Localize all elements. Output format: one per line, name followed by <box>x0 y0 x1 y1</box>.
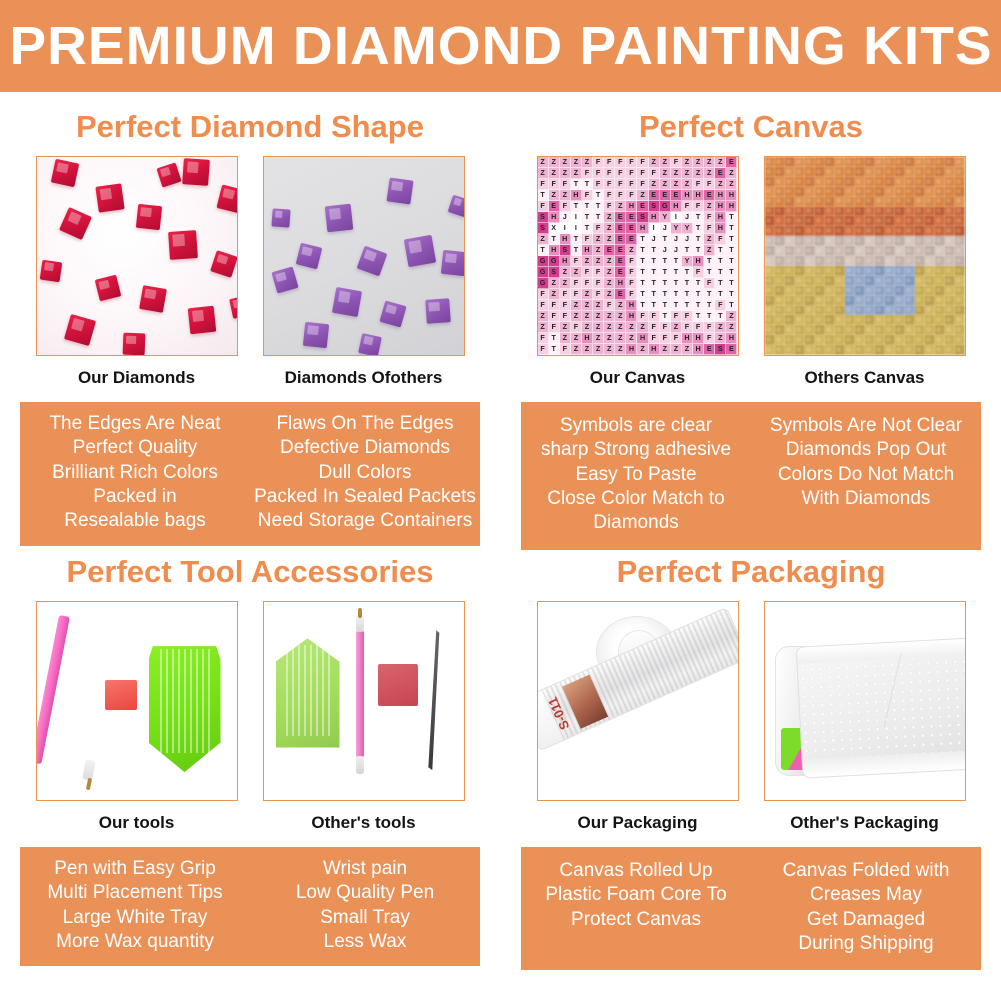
diamond-bead <box>187 306 216 335</box>
canvas-symbol-cell: F <box>704 179 715 190</box>
canvas-symbol-cell: H <box>649 212 660 223</box>
blurry-canvas-cell <box>865 216 875 226</box>
canvas-symbol-cell: H <box>549 212 560 223</box>
page-banner: PREMIUM DIAMOND PAINTING KITS <box>0 0 1001 92</box>
canvas-symbol-cell: G <box>538 267 549 278</box>
canvas-symbol-cell: Z <box>715 333 726 344</box>
blurry-canvas-cell <box>865 236 875 246</box>
diamond-bead <box>95 183 124 212</box>
blurry-canvas-cell <box>805 266 815 276</box>
canvas-symbol-cell: Z <box>615 333 626 344</box>
diamond-bead <box>356 246 387 277</box>
blurry-canvas-cell <box>795 157 805 167</box>
blurry-canvas-cell <box>955 216 965 226</box>
blurry-canvas-cell <box>805 296 815 306</box>
blurry-canvas-cell <box>775 167 785 177</box>
canvas-symbol-cell: F <box>682 322 693 333</box>
blurry-canvas-cell <box>925 266 935 276</box>
blurry-canvas-cell <box>875 286 885 296</box>
diamond-bead <box>302 322 328 348</box>
canvas-symbol-cell: Z <box>593 322 604 333</box>
canvas-symbol-cell: G <box>538 256 549 267</box>
canvas-symbol-cell: E <box>726 344 737 355</box>
blurry-canvas-cell <box>825 345 835 355</box>
canvas-symbol-cell: Z <box>582 157 593 168</box>
blurry-canvas-cell <box>785 296 795 306</box>
canvas-symbol-cell: T <box>726 234 737 245</box>
blurry-canvas-cell <box>935 167 945 177</box>
blurry-canvas-cell <box>885 226 895 236</box>
blurry-canvas-cell <box>955 306 965 316</box>
fact-line: Flaws On The Edges <box>253 412 477 436</box>
blurry-canvas-cell <box>925 315 935 325</box>
blurry-canvas-cell <box>845 256 855 266</box>
canvas-symbol-cell: T <box>671 267 682 278</box>
blurry-canvas-cell <box>825 197 835 207</box>
blurry-canvas-cell <box>855 236 865 246</box>
section-diamond-shape: Perfect Diamond Shape Our Diamonds Diamo… <box>0 92 500 546</box>
blurry-canvas-cell <box>805 335 815 345</box>
canvas-symbol-cell: F <box>538 333 549 344</box>
canvas-symbol-cell: Z <box>615 322 626 333</box>
canvas-symbol-cell: F <box>637 311 648 322</box>
blurry-canvas-cell <box>905 315 915 325</box>
canvas-symbol-cell: T <box>671 278 682 289</box>
canvas-symbol-cell: F <box>604 168 615 179</box>
blurry-canvas-cell <box>955 266 965 276</box>
blurry-canvas-cell <box>815 335 825 345</box>
canvas-symbol-cell: T <box>671 256 682 267</box>
blurry-canvas-cell <box>835 226 845 236</box>
blurry-canvas-cell <box>785 266 795 276</box>
canvas-symbol-cell: T <box>538 190 549 201</box>
blurry-canvas-cell <box>905 226 915 236</box>
canvas-symbol-cell: H <box>582 245 593 256</box>
blurry-canvas-cell <box>835 276 845 286</box>
fact-line: Wrist pain <box>253 857 477 881</box>
fact-line: Symbols Are Not Clear <box>754 414 978 438</box>
fact-line: Canvas Folded with <box>754 859 978 883</box>
blurry-canvas-cell <box>935 226 945 236</box>
image-cell-our-canvas: ZZZZZFFFFFZZFZZZZEZZZZFFFFFFFZZZZZEZFFFT… <box>537 156 739 388</box>
canvas-symbol-cell: T <box>693 278 704 289</box>
canvas-symbol-cell: X <box>549 223 560 234</box>
fact-line: Multi Placement Tips <box>23 881 247 905</box>
canvas-symbol-cell: T <box>637 245 648 256</box>
canvas-symbol-cell: J <box>649 234 660 245</box>
canvas-symbol-cell: Z <box>626 333 637 344</box>
blurry-canvas-cell <box>915 345 925 355</box>
blurry-canvas-cell <box>885 157 895 167</box>
canvas-symbol-cell: F <box>604 190 615 201</box>
blurry-canvas-cell <box>825 256 835 266</box>
canvas-symbol-cell: T <box>582 179 593 190</box>
canvas-symbol-cell: F <box>693 201 704 212</box>
blurry-canvas-cell <box>925 187 935 197</box>
canvas-symbol-cell: Z <box>538 322 549 333</box>
blurry-canvas-cell <box>865 177 875 187</box>
blurry-canvas-cell <box>915 197 925 207</box>
canvas-symbol-cell: T <box>582 212 593 223</box>
blurry-canvas-cell <box>785 236 795 246</box>
caption-other-tools: Other's tools <box>263 813 465 833</box>
blurry-canvas-cell <box>795 207 805 217</box>
blurry-canvas-cell <box>925 335 935 345</box>
diamond-bead <box>379 300 406 327</box>
canvas-symbol-cell: F <box>626 278 637 289</box>
section-packaging: Perfect Packaging S-011 <box>501 537 1001 970</box>
blurry-canvas-cell <box>845 236 855 246</box>
facts-others-diamond-shape: Flaws On The EdgesDefective DiamondsDull… <box>250 412 480 534</box>
fact-line: Colors Do Not Match <box>754 463 978 487</box>
canvas-symbol-cell: F <box>626 289 637 300</box>
canvas-symbol-cell: H <box>560 234 571 245</box>
blurry-canvas-cell <box>925 306 935 316</box>
blurry-canvas-cell <box>875 167 885 177</box>
blurry-canvas-cell <box>785 306 795 316</box>
caption-other-diamonds: Diamonds Ofothers <box>263 368 465 388</box>
blurry-canvas-cell <box>855 276 865 286</box>
blurry-canvas-cell <box>775 325 785 335</box>
fact-line: Resealable bags <box>23 509 247 533</box>
blurry-canvas-cell <box>945 197 955 207</box>
canvas-symbol-cell: T <box>704 256 715 267</box>
canvas-symbol-cell: Z <box>660 168 671 179</box>
canvas-symbol-cell: F <box>604 300 615 311</box>
canvas-symbol-cell: F <box>582 190 593 201</box>
canvas-symbol-cell: H <box>549 245 560 256</box>
canvas-symbol-cell: T <box>715 256 726 267</box>
blurry-canvas-cell <box>955 276 965 286</box>
canvas-symbol-cell: F <box>671 157 682 168</box>
canvas-symbol-cell: T <box>549 234 560 245</box>
section-title-tools: Perfect Tool Accessories <box>0 537 500 589</box>
blurry-canvas-cell <box>775 276 785 286</box>
canvas-symbol-cell: E <box>615 245 626 256</box>
blurry-canvas-cell <box>865 306 875 316</box>
blurry-canvas-cell <box>915 236 925 246</box>
canvas-symbol-cell: Z <box>604 267 615 278</box>
blurry-canvas-cell <box>795 276 805 286</box>
other-pen-needle-icon <box>358 608 362 618</box>
blurry-canvas-cell <box>955 345 965 355</box>
fact-line: During Shipping <box>754 932 978 956</box>
canvas-symbol-cell: J <box>660 245 671 256</box>
blurry-canvas-cell <box>895 335 905 345</box>
blurry-canvas-cell <box>945 345 955 355</box>
blurry-canvas-cell <box>935 266 945 276</box>
blurry-canvas-cell <box>905 335 915 345</box>
blurry-canvas-cell <box>895 216 905 226</box>
blurry-canvas-cell <box>935 325 945 335</box>
canvas-symbol-cell: Z <box>582 256 593 267</box>
canvas-symbol-cell: E <box>660 190 671 201</box>
fact-line: Packed in <box>23 485 247 509</box>
blurry-canvas-cell <box>865 286 875 296</box>
canvas-symbol-cell: T <box>649 278 660 289</box>
blurry-canvas-cell <box>915 325 925 335</box>
canvas-symbol-cell: J <box>660 223 671 234</box>
canvas-symbol-cell: Z <box>604 256 615 267</box>
canvas-symbol-cell: Z <box>671 322 682 333</box>
blurry-canvas-cell <box>885 246 895 256</box>
blurry-canvas-cell <box>955 157 965 167</box>
blurry-canvas-cell <box>805 325 815 335</box>
blurry-canvas-cell <box>865 345 875 355</box>
blurry-canvas-cell <box>925 236 935 246</box>
fact-line: With Diamonds <box>754 487 978 511</box>
canvas-symbol-cell: H <box>560 256 571 267</box>
canvas-symbol-cell: F <box>549 300 560 311</box>
image-cell-our-packaging: S-011 Our Packaging <box>537 601 739 833</box>
canvas-symbol-cell: Z <box>682 168 693 179</box>
blurry-canvas-cell <box>775 207 785 217</box>
canvas-symbol-cell: T <box>715 311 726 322</box>
blurry-canvas-cell <box>825 286 835 296</box>
canvas-symbol-cell: E <box>549 201 560 212</box>
canvas-symbol-cell: T <box>693 223 704 234</box>
blurry-canvas-cell <box>845 306 855 316</box>
fact-line: Close Color Match to <box>524 487 748 511</box>
blurry-canvas-cell <box>765 315 775 325</box>
blurry-canvas-cell <box>825 276 835 286</box>
blurry-canvas-cell <box>795 236 805 246</box>
canvas-symbol-cell: T <box>715 245 726 256</box>
blurry-canvas-cell <box>915 296 925 306</box>
image-cell-our-tools: Our tools <box>36 601 238 833</box>
canvas-symbol-cell: F <box>615 190 626 201</box>
blurry-canvas-cell <box>835 236 845 246</box>
blurry-canvas-cell <box>955 226 965 236</box>
blurry-canvas-cell <box>945 207 955 217</box>
canvas-symbol-cell: Z <box>649 179 660 190</box>
blurry-canvas-cell <box>905 187 915 197</box>
blurry-canvas-cell <box>905 256 915 266</box>
canvas-symbol-cell: H <box>626 344 637 355</box>
canvas-symbol-cell: E <box>626 212 637 223</box>
blurry-canvas-cell <box>825 306 835 316</box>
canvas-symbol-cell: T <box>582 201 593 212</box>
blurry-canvas-cell <box>825 246 835 256</box>
blurry-canvas-cell <box>845 286 855 296</box>
canvas-symbol-cell: Z <box>715 179 726 190</box>
blurry-canvas-cell <box>775 296 785 306</box>
canvas-symbol-cell: T <box>660 256 671 267</box>
blurry-canvas-cell <box>855 197 865 207</box>
infographic-page: PREMIUM DIAMOND PAINTING KITS Perfect Di… <box>0 0 1001 1001</box>
blurry-canvas-cell <box>915 207 925 217</box>
blurry-canvas-cell <box>855 256 865 266</box>
blurry-canvas-cell <box>835 335 845 345</box>
blurry-canvas-cell <box>935 207 945 217</box>
image-our-tools <box>36 601 238 801</box>
facts-packaging: Canvas Rolled UpPlastic Foam Core ToProt… <box>521 847 981 970</box>
blurry-canvas-cell <box>955 187 965 197</box>
fact-line: Brilliant Rich Colors <box>23 461 247 485</box>
blurry-canvas-cell <box>825 266 835 276</box>
image-cell-other-diamonds: Diamonds Ofothers <box>263 156 465 388</box>
section-tools: Perfect Tool Accessories <box>0 537 500 966</box>
canvas-symbol-cell: H <box>649 344 660 355</box>
canvas-symbol-cell: Z <box>582 322 593 333</box>
canvas-symbol-cell: F <box>682 311 693 322</box>
blurry-canvas-cell <box>785 256 795 266</box>
canvas-symbol-cell: Z <box>593 311 604 322</box>
blurry-canvas-cell <box>775 345 785 355</box>
canvas-symbol-cell: T <box>649 289 660 300</box>
section-title-canvas: Perfect Canvas <box>501 92 1001 144</box>
canvas-symbol-cell: Z <box>604 289 615 300</box>
canvas-symbol-cell: E <box>637 201 648 212</box>
blurry-canvas-cell <box>905 207 915 217</box>
blurry-canvas-cell <box>875 187 885 197</box>
other-pen-cap-icon <box>356 756 364 774</box>
canvas-symbol-cell: T <box>549 333 560 344</box>
blurry-canvas-cell <box>905 177 915 187</box>
canvas-symbol-cell: Z <box>693 168 704 179</box>
blurry-canvas-cell <box>795 187 805 197</box>
blurry-canvas-cell <box>905 306 915 316</box>
fact-line: The Edges Are Neat <box>23 412 247 436</box>
canvas-symbol-cell: T <box>538 245 549 256</box>
blurry-canvas-cell <box>805 216 815 226</box>
blurry-canvas-cell <box>925 216 935 226</box>
blurry-canvas-cell <box>925 325 935 335</box>
diamond-bead <box>324 204 353 233</box>
canvas-symbol-cell: Z <box>704 245 715 256</box>
canvas-symbol-cell: J <box>671 234 682 245</box>
canvas-symbol-cell: F <box>560 344 571 355</box>
canvas-symbol-cell: J <box>560 212 571 223</box>
blurry-canvas-cell <box>775 157 785 167</box>
blurry-canvas-cell <box>885 207 895 217</box>
canvas-symbol-cell: H <box>726 333 737 344</box>
blurry-canvas-cell <box>935 345 945 355</box>
canvas-symbol-cell: F <box>704 212 715 223</box>
blurry-canvas-cell <box>855 296 865 306</box>
diamond-bead <box>447 195 464 218</box>
blurry-canvas-cell <box>815 226 825 236</box>
fact-line: Need Storage Containers <box>253 509 477 533</box>
canvas-symbol-cell: H <box>693 344 704 355</box>
canvas-symbol-cell: T <box>649 267 660 278</box>
canvas-symbol-cell: T <box>693 311 704 322</box>
canvas-symbol-cell: Z <box>571 300 582 311</box>
blurry-canvas-cell <box>785 315 795 325</box>
blurry-canvas-cell <box>915 187 925 197</box>
blurry-canvas-cell <box>785 187 795 197</box>
blurry-canvas-cell <box>895 177 905 187</box>
blurry-canvas-cell <box>955 315 965 325</box>
canvas-symbol-cell: Z <box>582 300 593 311</box>
image-pair-canvas: ZZZZZFFFFFZZFZZZZEZZZZFFFFFFFZZZZZEZFFFT… <box>501 156 1001 388</box>
canvas-symbol-cell: T <box>649 300 660 311</box>
blurry-canvas-cell <box>885 345 895 355</box>
canvas-symbol-cell: Z <box>549 289 560 300</box>
fact-line: Less Wax <box>253 930 477 954</box>
canvas-symbol-cell: F <box>649 333 660 344</box>
blurry-canvas-cell <box>915 335 925 345</box>
diamond-bead <box>271 208 290 227</box>
blurry-canvas-cell <box>945 296 955 306</box>
canvas-symbol-cell: H <box>582 333 593 344</box>
fact-line: Diamonds <box>524 511 748 535</box>
canvas-symbol-cell: Z <box>593 333 604 344</box>
fact-line: Symbols are clear <box>524 414 748 438</box>
canvas-symbol-cell: E <box>626 223 637 234</box>
wax-square-icon <box>105 680 137 710</box>
blurry-canvas-cell <box>905 216 915 226</box>
blurry-canvas-cell <box>815 266 825 276</box>
canvas-symbol-cell: Z <box>560 278 571 289</box>
blurry-canvas-cell <box>855 325 865 335</box>
blurry-canvas-cell <box>915 306 925 316</box>
canvas-symbol-cell: Z <box>671 168 682 179</box>
canvas-symbol-cell: F <box>637 157 648 168</box>
blurry-canvas-cell <box>895 266 905 276</box>
image-pair-diamond-shape: Our Diamonds Diamonds Ofothers <box>0 156 500 388</box>
fact-line: sharp Strong adhesive <box>524 438 748 462</box>
pink-pen-icon <box>36 615 70 764</box>
canvas-symbol-cell: F <box>582 278 593 289</box>
blurry-canvas-cell <box>945 276 955 286</box>
blurry-canvas-cell <box>875 157 885 167</box>
image-cell-others-canvas: Others Canvas <box>764 156 966 388</box>
canvas-symbol-cell: T <box>715 289 726 300</box>
canvas-symbol-cell: S <box>538 223 549 234</box>
diamond-bead <box>295 243 322 270</box>
blurry-canvas-cell <box>935 256 945 266</box>
blurry-canvas-cell <box>905 157 915 167</box>
canvas-symbol-cell: Y <box>660 212 671 223</box>
canvas-symbol-cell: T <box>593 201 604 212</box>
blurry-canvas-cell <box>805 276 815 286</box>
canvas-symbol-cell: T <box>549 344 560 355</box>
blurry-canvas-cell <box>815 197 825 207</box>
blurry-canvas-cell <box>895 226 905 236</box>
fact-line: Small Tray <box>253 906 477 930</box>
blurry-canvas-cell <box>785 335 795 345</box>
blurry-canvas-cell <box>935 296 945 306</box>
canvas-symbol-cell: F <box>715 300 726 311</box>
blurry-canvas-cell <box>795 306 805 316</box>
diamond-bead <box>63 314 95 346</box>
blurry-canvas-cell <box>825 315 835 325</box>
canvas-symbol-cell: H <box>715 201 726 212</box>
canvas-symbol-cell: Z <box>604 278 615 289</box>
canvas-symbol-cell: Z <box>626 322 637 333</box>
blurry-canvas-cell <box>875 276 885 286</box>
blurry-canvas-cell <box>845 207 855 217</box>
blurry-canvas-cell <box>815 157 825 167</box>
diamond-bead <box>229 295 238 319</box>
blurry-canvas-cell <box>925 246 935 256</box>
blurry-canvas-cell <box>895 197 905 207</box>
canvas-symbol-cell: F <box>549 311 560 322</box>
blurry-canvas-cell <box>895 286 905 296</box>
canvas-symbol-cell: Z <box>593 256 604 267</box>
blurry-canvas-cell <box>855 286 865 296</box>
blurry-canvas-cell <box>935 177 945 187</box>
canvas-symbol-cell: T <box>671 289 682 300</box>
canvas-symbol-cell: F <box>549 322 560 333</box>
blurry-canvas-cell <box>865 325 875 335</box>
blurry-canvas-cell <box>845 197 855 207</box>
canvas-symbol-cell: F <box>704 333 715 344</box>
blurry-canvas-cell <box>845 276 855 286</box>
canvas-symbol-cell: F <box>615 157 626 168</box>
blurry-canvas-cell <box>855 345 865 355</box>
